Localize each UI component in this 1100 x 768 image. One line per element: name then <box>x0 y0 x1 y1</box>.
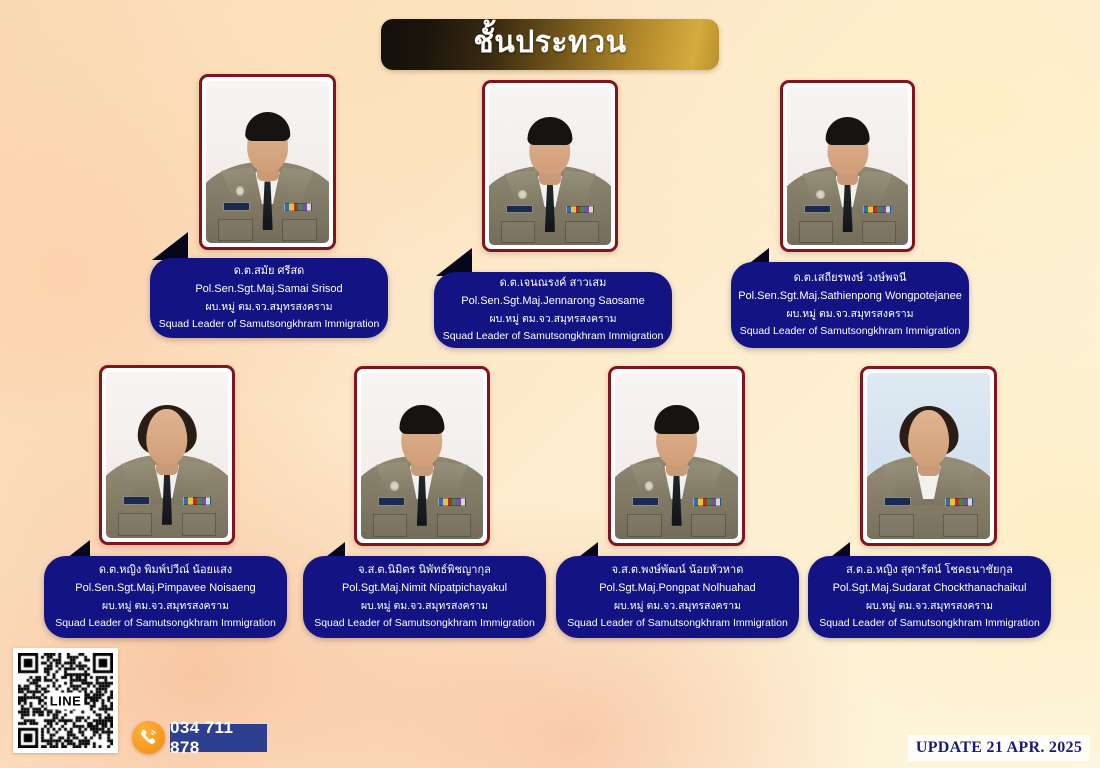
officer-photo-frame <box>860 366 997 546</box>
portrait-male-dress-uniform <box>615 373 738 539</box>
officer-thai-name: ด.ต.เจนณรงค์ สาวเสม <box>500 277 607 290</box>
officer-eng-position: Squad Leader of Samutsongkhram Immigrati… <box>740 325 961 337</box>
portrait-male-dress-uniform <box>361 373 483 539</box>
update-date: UPDATE 21 APR. 2025 <box>916 739 1082 757</box>
officer-info-card[interactable]: ส.ต.อ.หญิง สุดารัตน์ โชคธนาชัยกุล Pol.Sg… <box>808 556 1051 638</box>
officer-photo <box>867 373 990 539</box>
officer-eng-position: Squad Leader of Samutsongkhram Immigrati… <box>159 318 380 330</box>
officer-eng-name: Pol.Sgt.Maj.Nimit Nipatpichayakul <box>342 582 507 595</box>
officer-info-card[interactable]: ด.ต.สมัย ศรีสด Pol.Sen.Sgt.Maj.Samai Sri… <box>150 258 388 338</box>
officer-eng-name: Pol.Sgt.Maj.Sudarat Chockthanachaikul <box>833 582 1027 595</box>
qr-brand-label: LINE <box>47 692 85 709</box>
update-stamp: UPDATE 21 APR. 2025 <box>908 735 1090 761</box>
officer-thai-position: ผบ.หมู่ ตม.จว.สมุทรสงคราม <box>205 301 332 313</box>
personnel-board: ชั้นประทวน ด.ต.สมัย ศรีสด Pol.Sen.Sgt.Ma… <box>0 0 1100 768</box>
officer-info-card[interactable]: จ.ส.ต.พงษ์พัฒน์ น้อยหัวหาด Pol.Sgt.Maj.P… <box>556 556 799 638</box>
officer-eng-position: Squad Leader of Samutsongkhram Immigrati… <box>55 617 276 629</box>
phone-number-badge[interactable]: 034 711 878 <box>170 724 267 752</box>
portrait-male-dress-uniform <box>787 87 908 245</box>
officer-thai-position: ผบ.หมู่ ตม.จว.สมุทรสงคราม <box>614 600 741 612</box>
portrait-female-service-uniform <box>867 373 990 539</box>
page-title: ชั้นประทวน <box>473 28 626 61</box>
portrait-male-dress-uniform <box>489 87 611 245</box>
officer-thai-name: ด.ต.สมัย ศรีสด <box>234 265 305 278</box>
phone-number: 034 711 878 <box>170 718 267 758</box>
page-title-banner: ชั้นประทวน <box>381 19 719 70</box>
officer-info-card[interactable]: จ.ส.ต.นิมิตร นิพัทธ์พิชญากุล Pol.Sgt.Maj… <box>303 556 546 638</box>
officer-photo <box>206 81 329 243</box>
officer-photo <box>615 373 738 539</box>
officer-eng-position: Squad Leader of Samutsongkhram Immigrati… <box>314 617 535 629</box>
officer-eng-position: Squad Leader of Samutsongkhram Immigrati… <box>819 617 1040 629</box>
officer-thai-position: ผบ.หมู่ ตม.จว.สมุทรสงคราม <box>361 600 488 612</box>
officer-photo-frame <box>99 365 235 545</box>
officer-thai-position: ผบ.หมู่ ตม.จว.สมุทรสงคราม <box>489 313 616 325</box>
officer-info-card[interactable]: ด.ต.หญิง พิมพ์ปวีณ์ น้อยแสง Pol.Sen.Sgt.… <box>44 556 287 638</box>
officer-thai-name: ด.ต.หญิง พิมพ์ปวีณ์ น้อยแสง <box>99 564 232 577</box>
officer-photo-frame <box>354 366 490 546</box>
officer-eng-name: Pol.Sgt.Maj.Pongpat Nolhuahad <box>599 582 756 595</box>
officer-photo-frame <box>608 366 745 546</box>
officer-eng-name: Pol.Sen.Sgt.Maj.Samai Srisod <box>195 283 342 296</box>
portrait-male-dress-uniform <box>206 81 329 243</box>
officer-photo <box>489 87 611 245</box>
officer-info-card[interactable]: ด.ต.เจนณรงค์ สาวเสม Pol.Sen.Sgt.Maj.Jenn… <box>434 272 672 348</box>
officer-thai-position: ผบ.หมู่ ตม.จว.สมุทรสงคราม <box>102 600 229 612</box>
officer-photo <box>361 373 483 539</box>
officer-thai-position: ผบ.หมู่ ตม.จว.สมุทรสงคราม <box>786 308 913 320</box>
phone-call-icon <box>132 721 165 754</box>
officer-photo <box>787 87 908 245</box>
officer-eng-position: Squad Leader of Samutsongkhram Immigrati… <box>567 617 788 629</box>
officer-eng-name: Pol.Sen.Sgt.Maj.Pimpavee Noisaeng <box>75 582 255 595</box>
officer-thai-name: จ.ส.ต.พงษ์พัฒน์ น้อยหัวหาด <box>612 564 744 577</box>
officer-photo-frame <box>199 74 336 250</box>
officer-photo <box>106 372 228 538</box>
officer-info-card[interactable]: ด.ต.เสถียรพงษ์ วงษ์พจนี Pol.Sen.Sgt.Maj.… <box>731 262 969 348</box>
officer-thai-name: จ.ส.ต.นิมิตร นิพัทธ์พิชญากุล <box>358 564 491 577</box>
officer-thai-name: ด.ต.เสถียรพงษ์ วงษ์พจนี <box>794 272 907 285</box>
officer-photo-frame <box>482 80 618 252</box>
line-qr-code[interactable]: LINE <box>13 648 118 753</box>
officer-photo-frame <box>780 80 915 252</box>
officer-thai-name: ส.ต.อ.หญิง สุดารัตน์ โชคธนาชัยกุล <box>846 564 1013 577</box>
officer-thai-position: ผบ.หมู่ ตม.จว.สมุทรสงคราม <box>866 600 993 612</box>
officer-eng-position: Squad Leader of Samutsongkhram Immigrati… <box>443 330 664 342</box>
officer-eng-name: Pol.Sen.Sgt.Maj.Jennarong Saosame <box>461 295 644 308</box>
card-ribbon-tail <box>152 232 188 260</box>
officer-eng-name: Pol.Sen.Sgt.Maj.Sathienpong Wongpotejane… <box>738 290 962 303</box>
portrait-female-dress-uniform <box>106 372 228 538</box>
